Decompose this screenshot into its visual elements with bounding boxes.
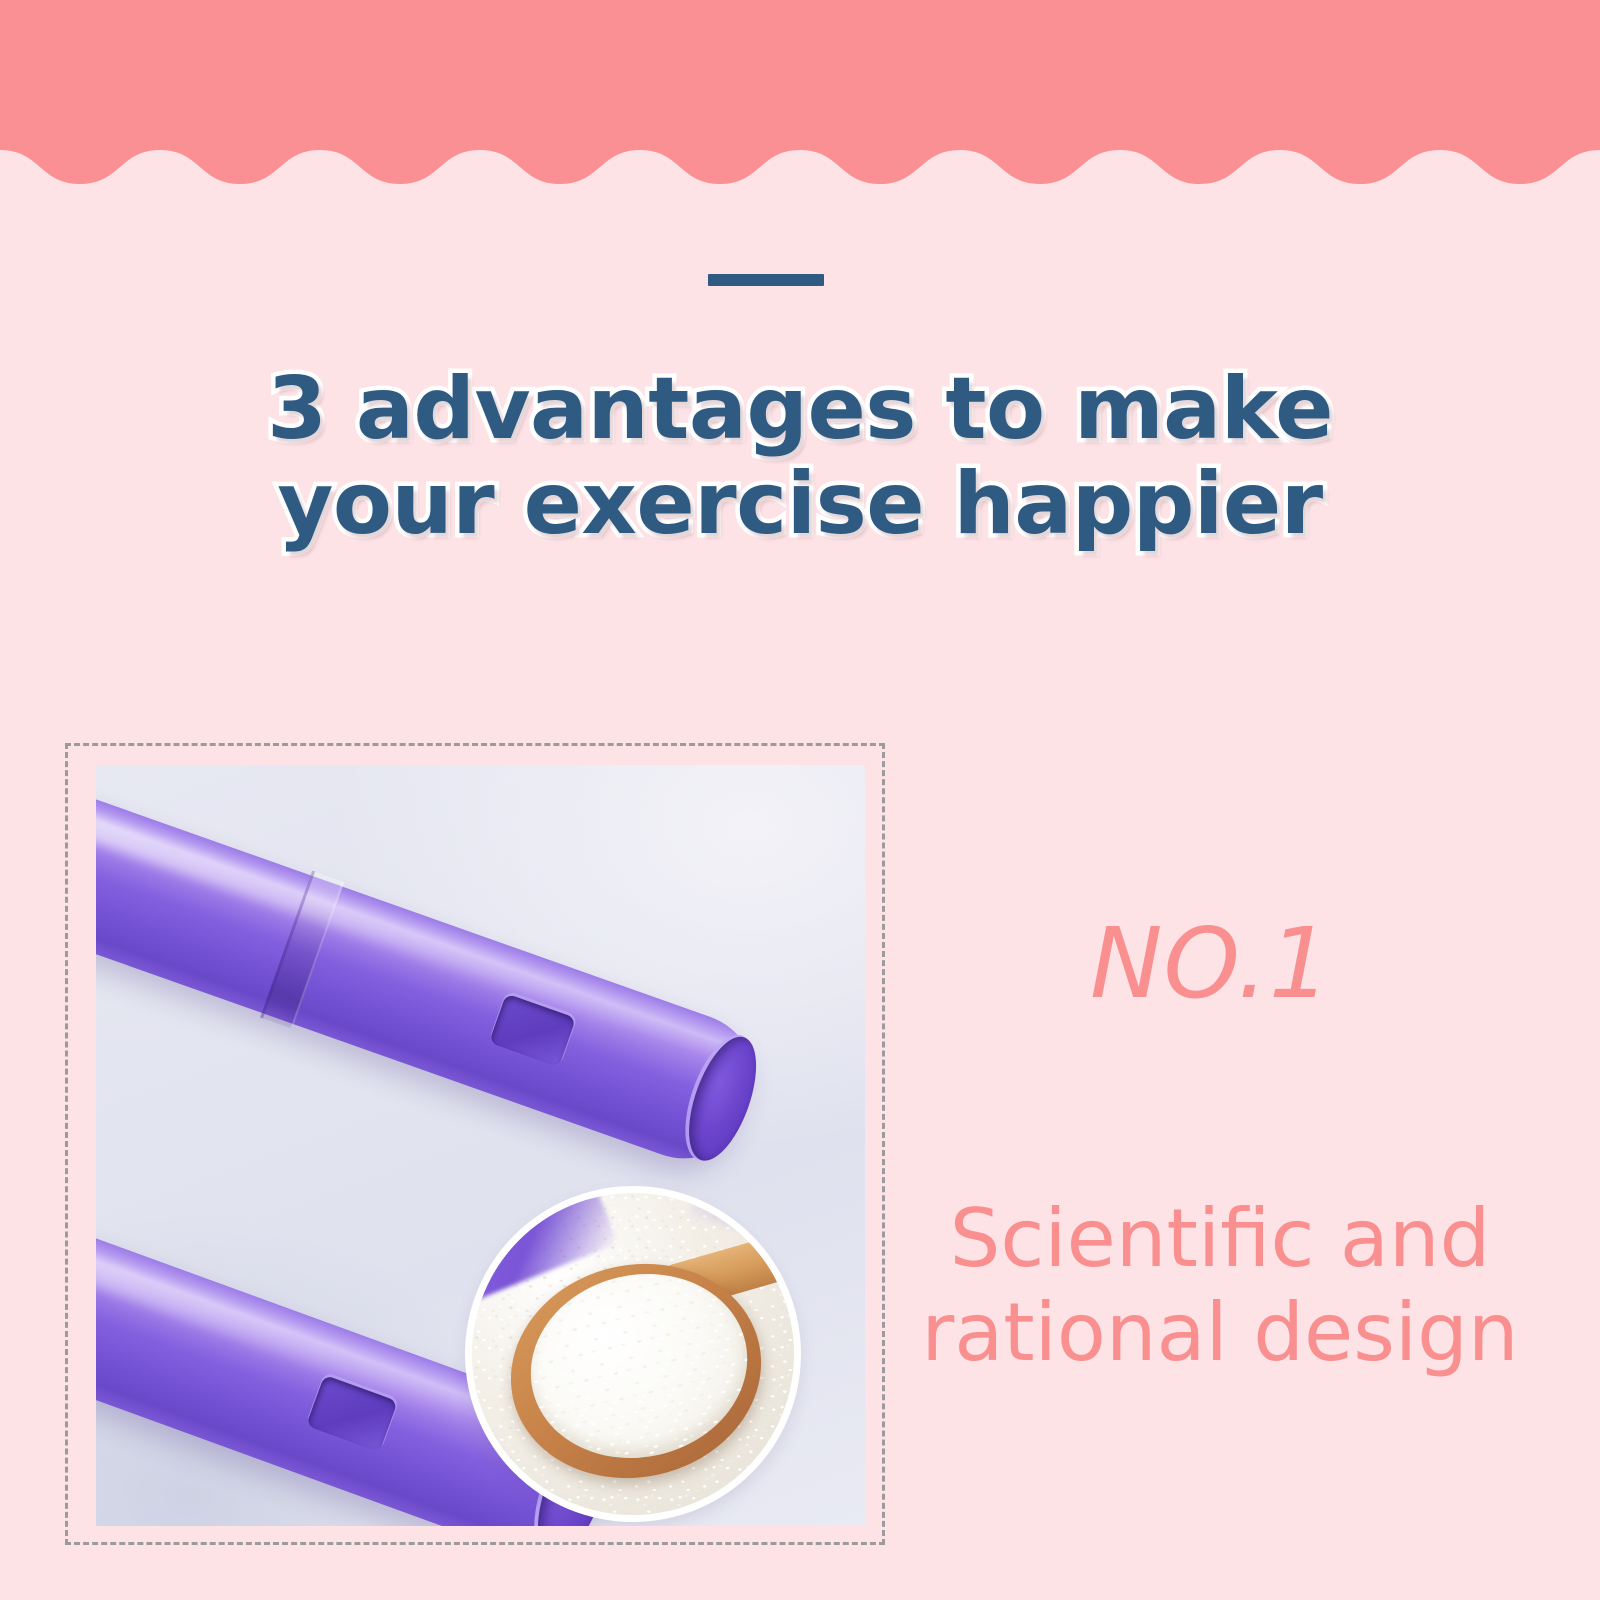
page-title-line-1: 3 advantages to make bbox=[0, 362, 1600, 457]
rice-detail-inset bbox=[472, 1193, 794, 1515]
product-photo-frame bbox=[65, 743, 885, 1545]
feature-description: Scientific and rational design bbox=[900, 1192, 1540, 1380]
page-title-line-2: your exercise happier bbox=[0, 457, 1600, 552]
heading-divider-bar bbox=[708, 274, 824, 286]
feature-number-badge: NO.1 bbox=[1090, 915, 1332, 1012]
product-feature-banner: 3 advantages to make your exercise happi… bbox=[0, 0, 1600, 1600]
page-title: 3 advantages to make your exercise happi… bbox=[0, 362, 1600, 552]
product-photo bbox=[96, 765, 865, 1526]
top-wave-band bbox=[0, 0, 1600, 200]
